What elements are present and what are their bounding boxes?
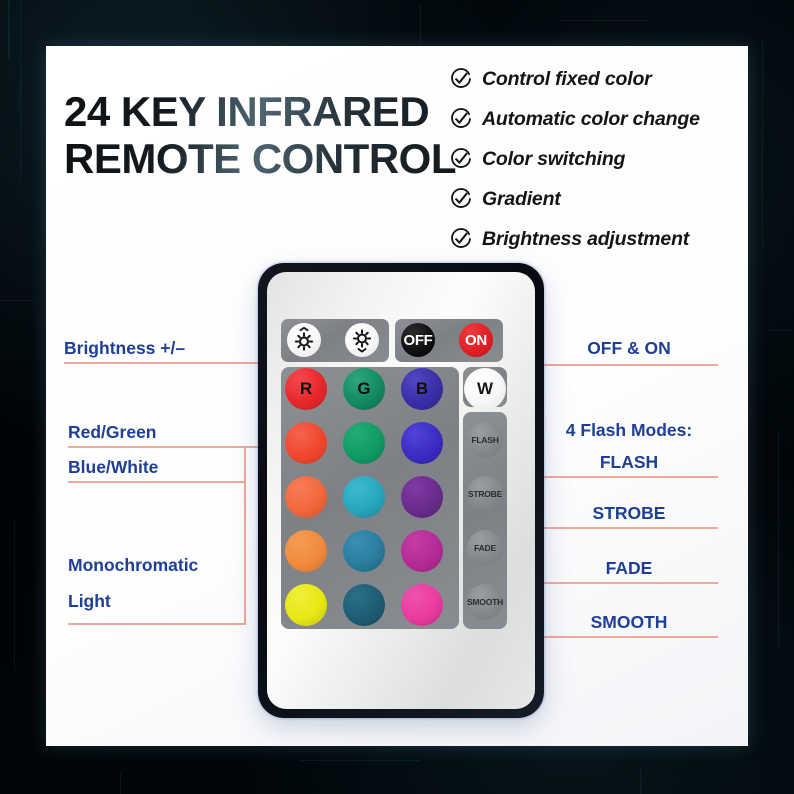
smooth-button[interactable]: SMOOTH [467,584,503,620]
annotation-off-on: OFF & ON [534,338,724,359]
circuit-trace [762,40,763,250]
blue-button[interactable]: B [401,368,443,410]
leader-line [64,362,260,364]
feature-label: Color switching [482,148,625,171]
check-circle-icon [450,228,472,250]
circuit-trace [14,520,15,670]
color-swatch-button[interactable] [343,422,385,464]
annotation-flash: FLASH [534,452,724,473]
off-button[interactable]: OFF [401,323,435,357]
leader-line [544,582,718,584]
on-button[interactable]: ON [459,323,493,357]
list-item: Automatic color change [450,100,750,138]
circuit-trace [640,766,641,794]
leader-line [544,636,718,638]
infographic-backdrop: 24 KEY INFRARED REMOTE CONTROL Control f… [0,0,794,794]
annotation-red-green: Red/Green [68,422,157,443]
red-button[interactable]: R [285,368,327,410]
color-swatch-button[interactable] [285,584,327,626]
flash-button[interactable]: FLASH [467,422,503,458]
list-item: Brightness adjustment [450,220,750,258]
leader-line [68,623,246,625]
circuit-trace [0,300,34,301]
color-swatch-button[interactable] [401,530,443,572]
leader-line [544,527,718,529]
check-circle-icon [450,108,472,130]
fade-button[interactable]: FADE [467,530,503,566]
product-info-card: 24 KEY INFRARED REMOTE CONTROL Control f… [46,46,748,746]
check-circle-icon [450,148,472,170]
color-swatch-button[interactable] [343,476,385,518]
feature-label: Automatic color change [482,108,700,131]
list-item: Color switching [450,140,750,178]
color-swatch-button[interactable] [343,584,385,626]
annotation-monochromatic-line2: Light [68,591,111,612]
circuit-trace [300,760,420,761]
sun-down-icon [349,327,375,353]
list-item: Control fixed color [450,60,750,98]
brightness-up-button[interactable] [287,323,321,357]
feature-label: Control fixed color [482,68,652,91]
brightness-down-button[interactable] [345,323,379,357]
circuit-trace [120,772,121,794]
color-swatch-button[interactable] [285,422,327,464]
sun-up-icon [291,327,317,353]
check-circle-icon [450,188,472,210]
remote-faceplate: OFF ON R G B W [267,272,535,709]
leader-line [544,364,718,366]
circuit-trace [770,330,790,331]
annotation-monochromatic: Monochromatic [68,555,198,576]
circuit-trace [420,4,421,44]
check-circle-icon [450,68,472,90]
list-item: Gradient [450,180,750,218]
color-swatch-button[interactable] [401,476,443,518]
leader-bracket [244,446,246,482]
leader-line [68,446,260,448]
page-title: 24 KEY INFRARED REMOTE CONTROL [64,88,464,182]
feature-label: Brightness adjustment [482,228,689,251]
circuit-trace [8,0,10,60]
annotation-strobe: STROBE [534,503,724,524]
leader-line [544,476,718,478]
feature-label: Gradient [482,188,561,211]
annotation-fade: FADE [534,558,724,579]
circuit-trace [560,20,650,21]
strobe-button[interactable]: STROBE [467,476,503,512]
circuit-trace [20,0,21,180]
annotation-smooth: SMOOTH [534,612,724,633]
green-button[interactable]: G [343,368,385,410]
annotation-brightness: Brightness +/– [64,338,185,359]
annotation-flash-modes: 4 Flash Modes: [524,420,734,441]
circuit-trace [778,430,779,650]
remote-control-device: OFF ON R G B W [258,263,544,718]
annotation-blue-white: Blue/White [68,457,158,478]
color-swatch-button[interactable] [401,584,443,626]
color-swatch-button[interactable] [285,476,327,518]
color-swatch-button[interactable] [401,422,443,464]
feature-list: Control fixed color Automatic color chan… [450,60,750,260]
color-swatch-button[interactable] [285,530,327,572]
white-button[interactable]: W [464,368,506,410]
leader-bracket [244,481,246,624]
color-swatch-button[interactable] [343,530,385,572]
leader-line [68,481,246,483]
